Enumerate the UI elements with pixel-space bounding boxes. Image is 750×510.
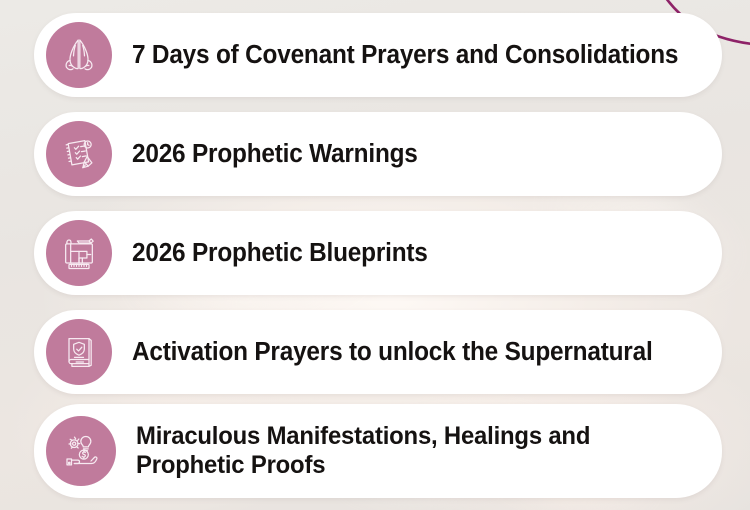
list-item-label: Miraculous Manifestations, Healings and … (136, 422, 598, 481)
list-item[interactable]: 7 Days of Covenant Prayers and Consolida… (34, 13, 722, 97)
hand-gear-bulb-coin-icon (46, 416, 116, 486)
blueprint-icon (46, 220, 112, 286)
slide-canvas: 7 Days of Covenant Prayers and Consolida… (0, 0, 750, 510)
list-item-label: 7 Days of Covenant Prayers and Consolida… (132, 41, 686, 70)
list-item[interactable]: Miraculous Manifestations, Healings and … (34, 404, 722, 498)
list-item-label: 2026 Prophetic Blueprints (132, 239, 435, 268)
list-item[interactable]: Activation Prayers to unlock the Superna… (34, 310, 722, 394)
list-item[interactable]: 2026 Prophetic Blueprints (34, 211, 722, 295)
list-item-label: Activation Prayers to unlock the Superna… (132, 338, 660, 367)
book-shield-icon (46, 319, 112, 385)
checklist-pencil-icon (46, 121, 112, 187)
list-item[interactable]: 2026 Prophetic Warnings (34, 112, 722, 196)
list-item-label: 2026 Prophetic Warnings (132, 140, 425, 169)
feature-list: 7 Days of Covenant Prayers and Consolida… (0, 0, 750, 510)
praying-hands-icon (46, 22, 112, 88)
